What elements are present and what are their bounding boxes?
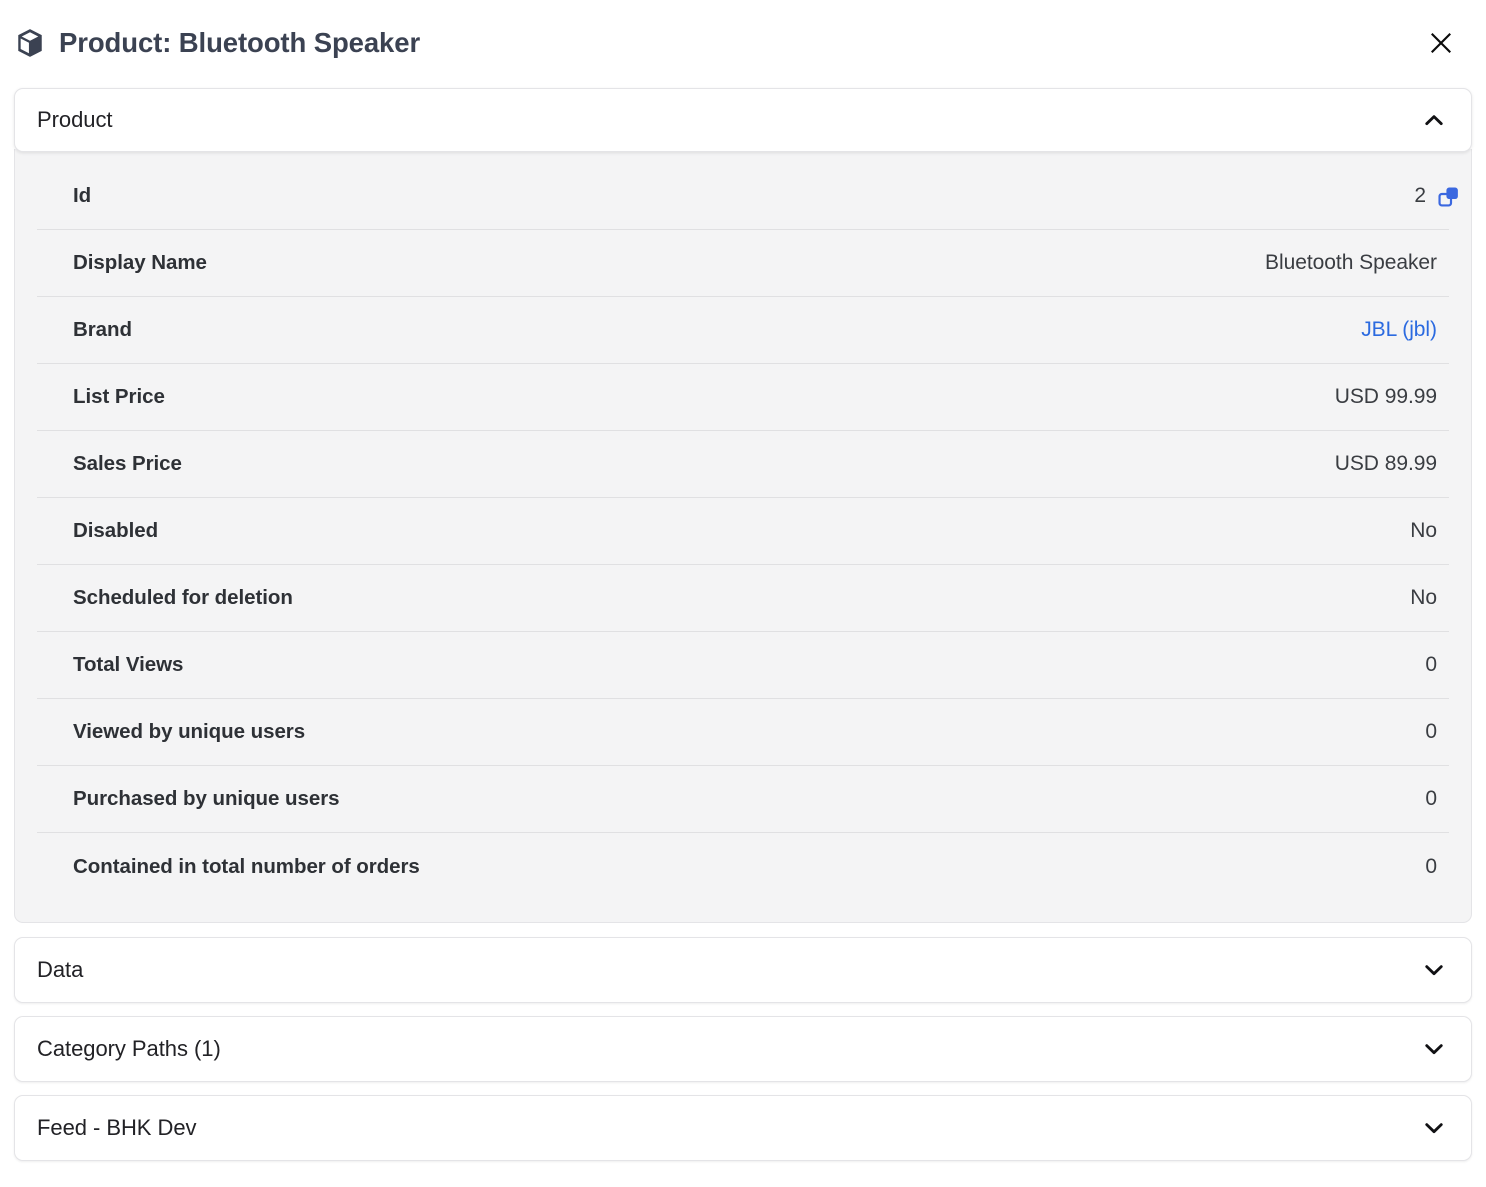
section-title: Category Paths (1) [37,1036,1421,1062]
row-label: Disabled [73,519,1410,543]
dialog-titlebar: Product: Bluetooth Speaker [0,0,1486,86]
product-property-list: Id 2 Display Name [37,149,1449,900]
row-value: 0 [1425,855,1449,879]
brand-link[interactable]: JBL (jbl) [1361,318,1449,342]
row-label: Purchased by unique users [73,787,1425,811]
box-icon [14,27,46,59]
row-label: Display Name [73,251,1265,275]
row-label: Brand [73,318,1361,342]
row-label: Total Views [73,653,1425,677]
row-label: Id [73,184,1414,208]
row-value: 0 [1425,787,1449,811]
row-value: 2 [1414,184,1426,208]
table-row: Total Views 0 [37,632,1449,699]
section-title: Data [37,957,1421,983]
copy-icon[interactable] [1436,184,1449,209]
product-detail-page: Product: Bluetooth Speaker Product [0,0,1486,1187]
spacer [14,923,1472,937]
table-row: Disabled No [37,498,1449,565]
section-title: Feed - BHK Dev [37,1115,1421,1141]
table-row: Sales Price USD 89.99 [37,431,1449,498]
section-header-feed-bhk-dev[interactable]: Feed - BHK Dev [15,1096,1471,1160]
spacer [14,1003,1472,1016]
table-row: Brand JBL (jbl) [37,297,1449,364]
row-value: No [1410,586,1449,610]
table-row: Purchased by unique users 0 [37,766,1449,833]
chevron-down-icon[interactable] [1421,957,1449,983]
row-label: Viewed by unique users [73,720,1425,744]
spacer [14,1082,1472,1095]
row-value: USD 89.99 [1335,452,1449,476]
dialog-title-group: Product: Bluetooth Speaker [14,27,1422,59]
row-label: Contained in total number of orders [73,855,1425,879]
row-value: USD 99.99 [1335,385,1449,409]
section-title: Product [37,107,1421,133]
section-product: Product Id 2 [14,88,1472,923]
row-label: List Price [73,385,1335,409]
chevron-down-icon[interactable] [1421,1036,1449,1062]
row-label: Scheduled for deletion [73,586,1410,610]
table-row: Id 2 [37,163,1449,230]
section-feed-bhk-dev: Feed - BHK Dev [14,1095,1472,1161]
row-value: 0 [1425,653,1449,677]
page-title: Product: Bluetooth Speaker [59,27,420,59]
section-header-data[interactable]: Data [15,938,1471,1002]
section-header-product[interactable]: Product [14,88,1472,152]
section-header-category-paths[interactable]: Category Paths (1) [15,1017,1471,1081]
table-row: Viewed by unique users 0 [37,699,1449,766]
row-value-group: 2 [1414,184,1449,209]
table-row: Contained in total number of orders 0 [37,833,1449,900]
table-row: Display Name Bluetooth Speaker [37,230,1449,297]
table-row: List Price USD 99.99 [37,364,1449,431]
section-body-product: Id 2 Display Name [14,149,1472,923]
row-value: Bluetooth Speaker [1265,251,1449,275]
row-value: No [1410,519,1449,543]
row-value: 0 [1425,720,1449,744]
row-label: Sales Price [73,452,1335,476]
close-icon[interactable] [1422,24,1460,62]
section-category-paths: Category Paths (1) [14,1016,1472,1082]
section-data: Data [14,937,1472,1003]
accordion-stack: Product Id 2 [14,88,1472,1161]
table-row: Scheduled for deletion No [37,565,1449,632]
chevron-up-icon[interactable] [1421,107,1449,133]
chevron-down-icon[interactable] [1421,1115,1449,1141]
